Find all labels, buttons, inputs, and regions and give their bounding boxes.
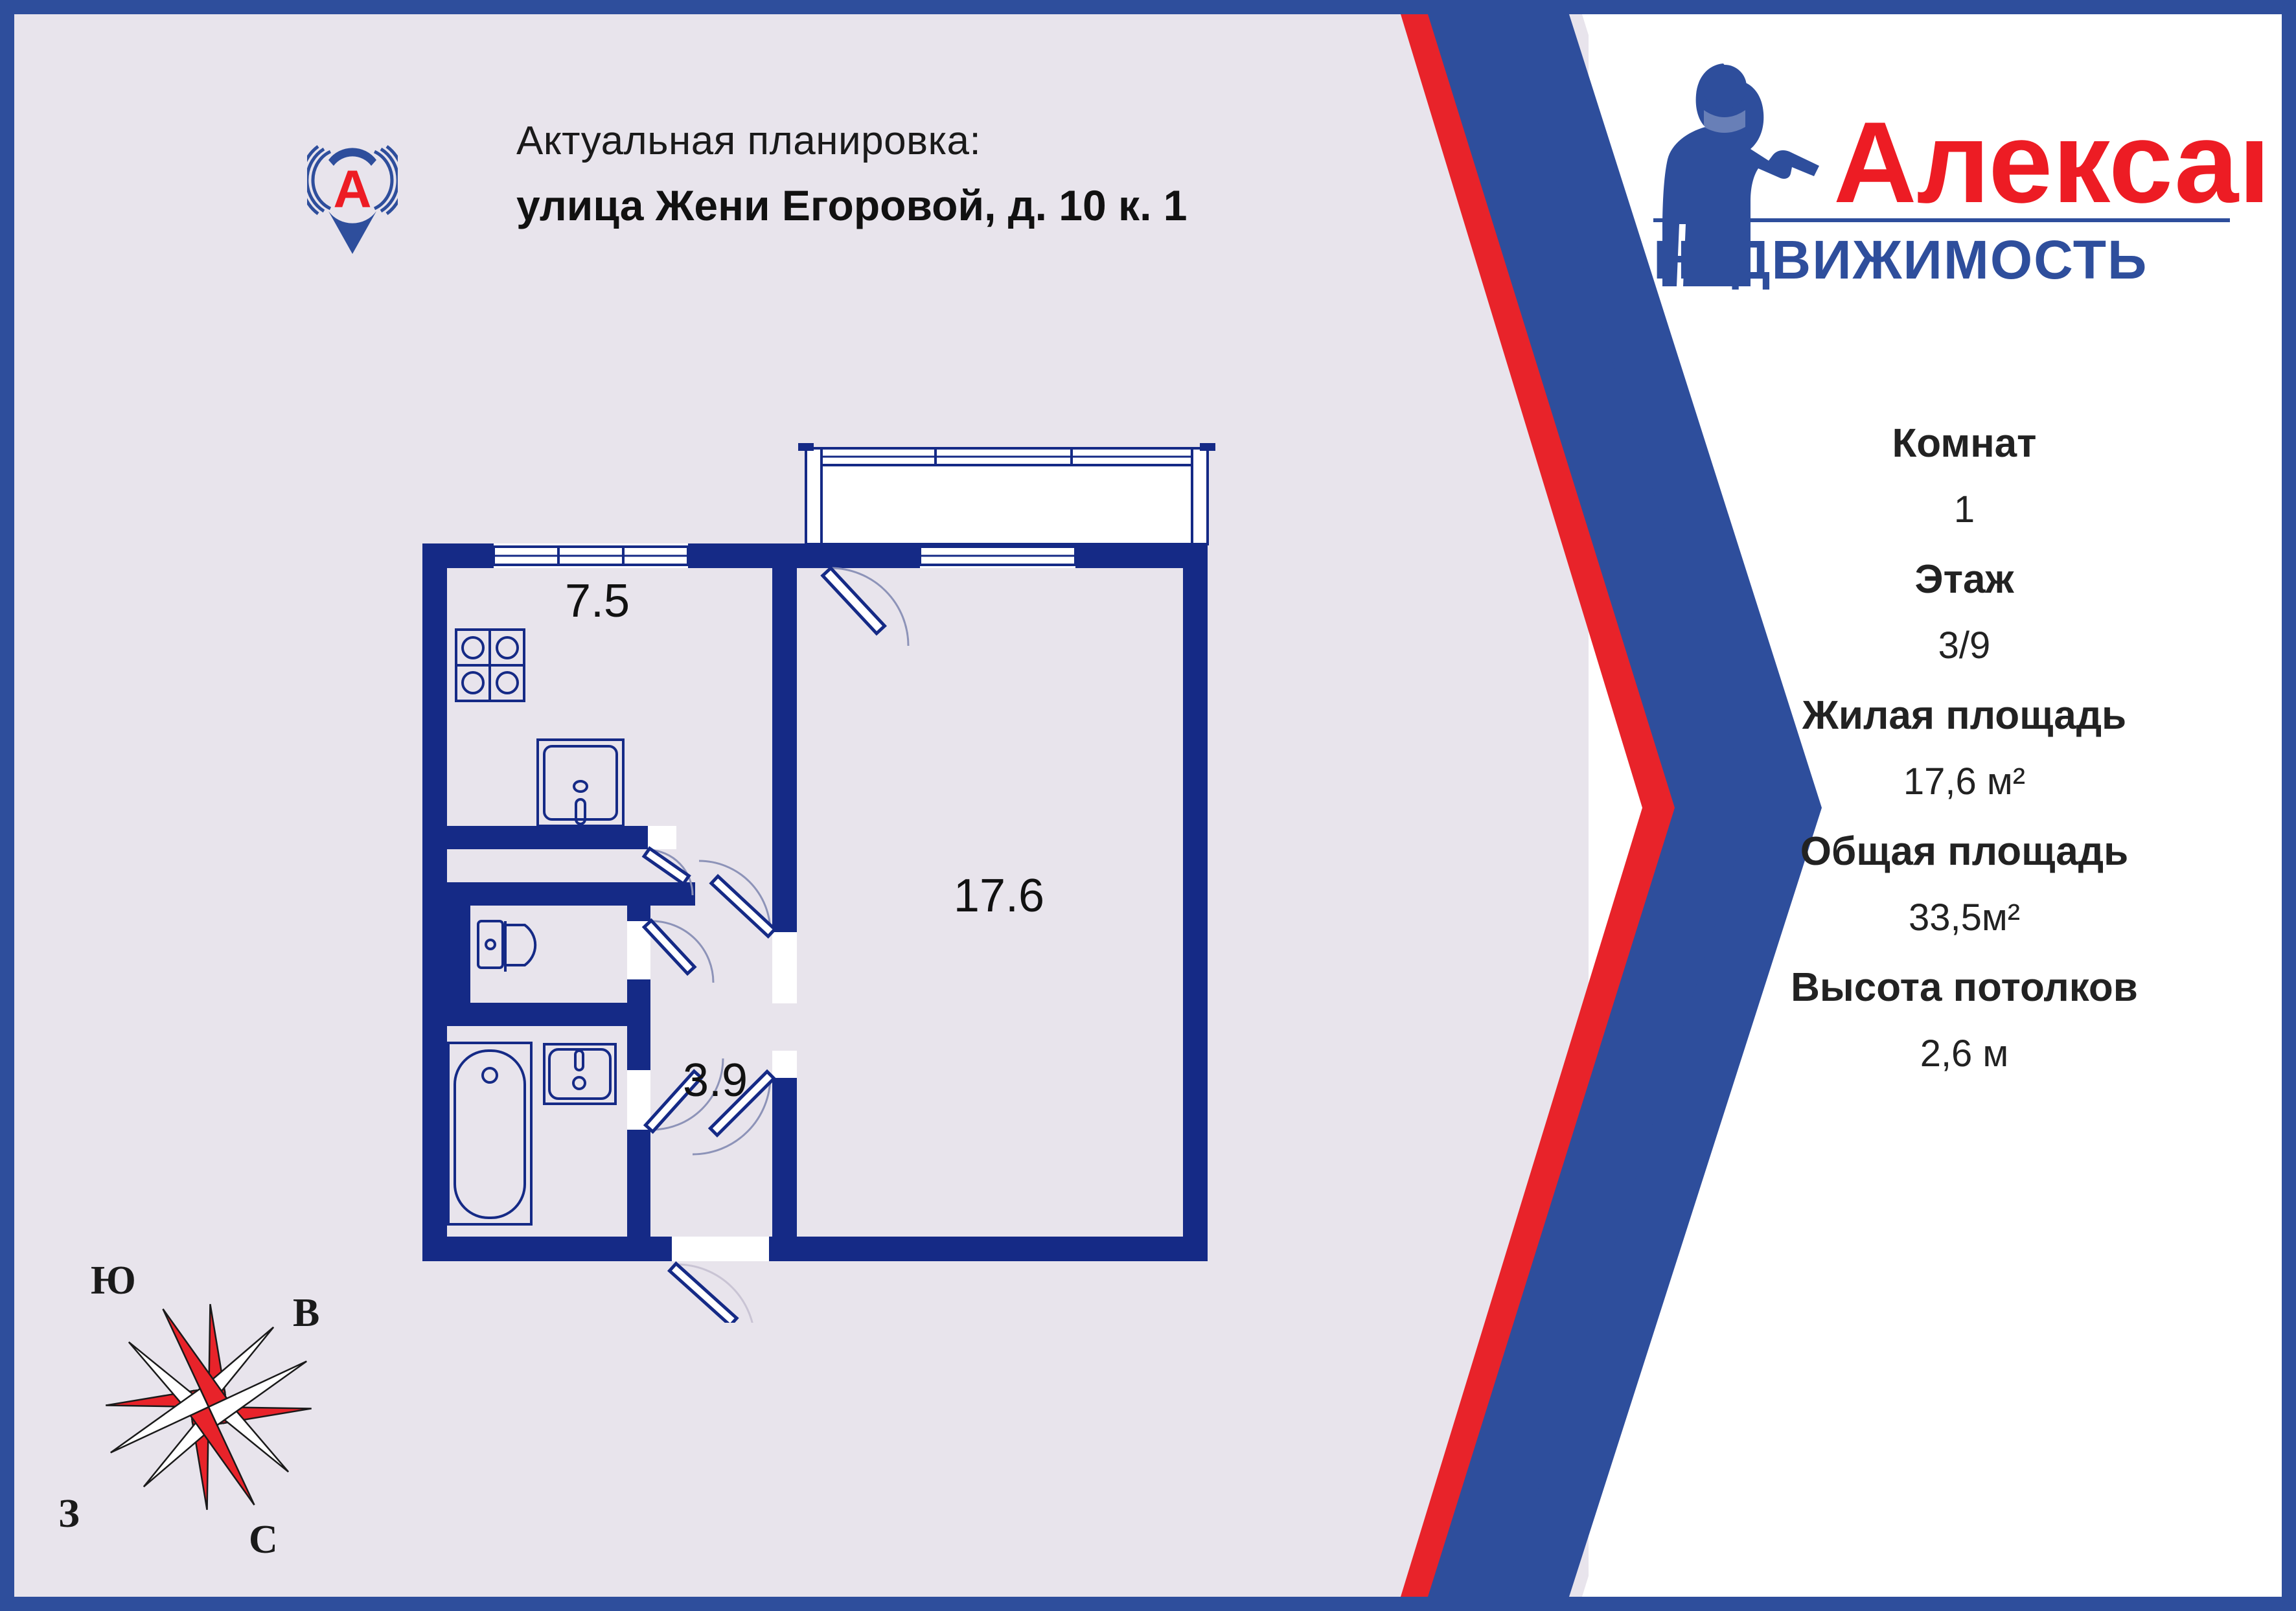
compass-label-south: С	[249, 1517, 278, 1563]
logo-subtitle: НЕДВИЖИМОСТЬ	[1653, 229, 2148, 290]
door-toilet	[644, 920, 713, 983]
toilet-icon	[478, 921, 535, 972]
info-label-rooms: Комнат	[1699, 422, 2230, 464]
info-value-rooms: 1	[1699, 490, 2230, 530]
info-label-floor: Этаж	[1699, 558, 2230, 600]
wall-right	[1183, 543, 1208, 1261]
wall-hall-living-b	[772, 1077, 797, 1261]
info-label-total-area: Общая площадь	[1699, 830, 2230, 873]
opening-bath-door	[627, 1070, 650, 1130]
compass-label-north: Ю	[91, 1258, 136, 1304]
wall-bottom	[422, 1237, 1208, 1261]
door-living-upper	[699, 861, 775, 936]
balcony	[798, 443, 1215, 544]
info-label-ceiling-height: Высота потолков	[1699, 966, 2230, 1009]
wall-bath-right	[627, 1026, 650, 1237]
page-title: Актуальная планировка:	[516, 118, 1261, 164]
svg-text:A: A	[333, 160, 371, 219]
opening-entrance	[672, 1237, 769, 1261]
floor-plan: 7.5 17.6 3.9	[377, 403, 1297, 1323]
compass-label-east: В	[293, 1290, 319, 1336]
header: A Актуальная планировка: улица Жени Егор…	[293, 118, 1265, 286]
wall-toilet-bottom	[422, 1003, 650, 1026]
bathtub-icon	[448, 1043, 531, 1224]
wall-kitchen-bottom	[447, 826, 648, 849]
address: улица Жени Егоровой, д. 10 к. 1	[516, 181, 1261, 230]
poster-canvas: A Актуальная планировка: улица Жени Егор…	[0, 0, 2296, 1611]
balcony-door	[823, 568, 908, 646]
compass-label-west: З	[58, 1491, 80, 1537]
wall-storage-right	[625, 826, 648, 849]
stove-icon	[456, 630, 524, 701]
room-label-kitchen: 7.5	[565, 575, 630, 627]
info-value-total-area: 33,5м²	[1699, 898, 2230, 938]
location-pin-icon: A	[307, 132, 398, 262]
wall-storage-bottom	[422, 882, 695, 906]
room-label-living: 17.6	[954, 870, 1044, 922]
logo-brand: Александр	[1833, 98, 2262, 227]
wall-kitchen-living	[772, 543, 797, 893]
compass-rose: Ю В З С	[73, 1271, 345, 1543]
bathroom-sink-icon	[544, 1044, 615, 1104]
room-label-hallway: 3.9	[683, 1055, 748, 1106]
wall-toilet-left	[447, 906, 470, 1003]
company-logo: Александр НЕДВИЖИМОСТЬ	[1627, 40, 2262, 293]
opening-living-door-2	[772, 1051, 797, 1078]
info-label-living-area: Жилая площадь	[1699, 694, 2230, 737]
info-value-floor: 3/9	[1699, 626, 2230, 666]
door-entrance	[669, 1264, 755, 1323]
wall-hall-living	[772, 893, 797, 932]
property-info-list: Комнат 1 Этаж 3/9 Жилая площадь 17,6 м² …	[1699, 422, 2230, 1074]
opening-kitchen-door	[648, 826, 676, 849]
info-value-ceiling-height: 2,6 м	[1699, 1034, 2230, 1074]
opening-living-door	[772, 932, 797, 1003]
kitchen-sink-icon	[538, 740, 623, 826]
info-value-living-area: 17,6 м²	[1699, 762, 2230, 802]
